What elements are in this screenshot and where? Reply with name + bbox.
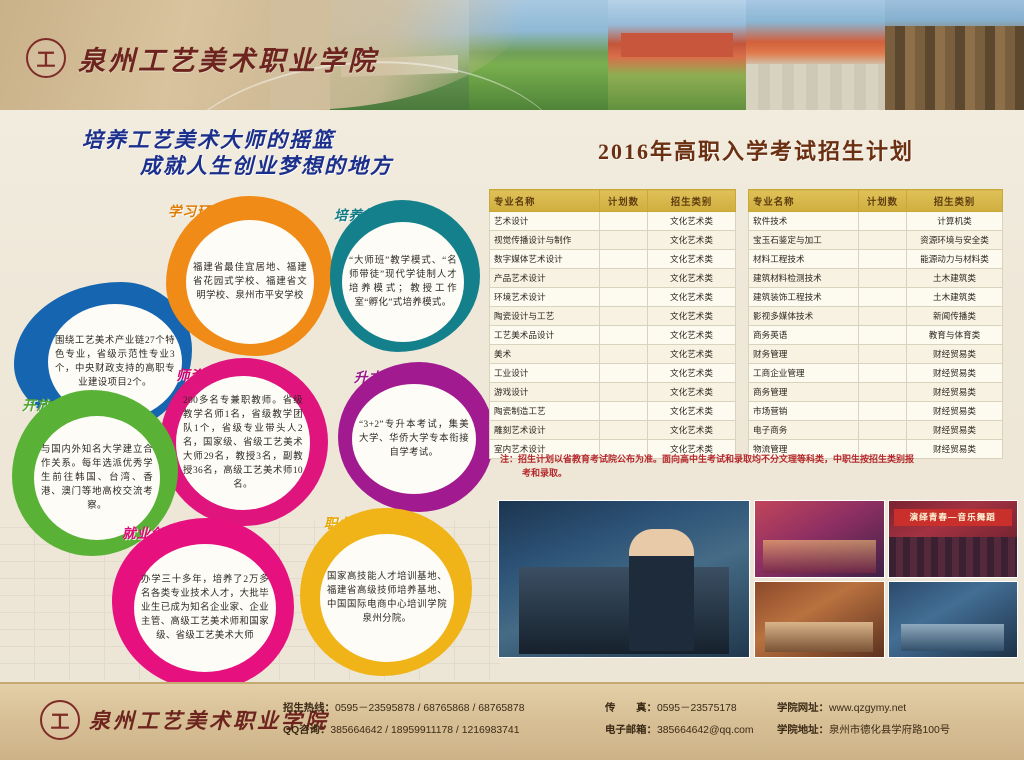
website-value[interactable]: www.qzgymy.net xyxy=(829,703,906,714)
stage-performance-photo xyxy=(754,500,885,578)
cell-major: 产品艺术设计 xyxy=(490,269,600,288)
cell-major: 财务管理 xyxy=(749,345,859,364)
column-header-quota: 计划数 xyxy=(600,190,648,212)
cell-quota xyxy=(859,269,907,288)
cell-major: 陶瓷制造工艺 xyxy=(490,402,600,421)
slogan-line-2: 成就人生创业梦想的地方 xyxy=(140,154,432,180)
petal-text-major-features: 围绕工艺美术产业链27个特色专业，省级示范性专业3个，中央财政支持的高职专业建设… xyxy=(55,334,175,390)
table-row: 视觉传播设计与制作文化艺术类 xyxy=(490,231,736,250)
cell-quota xyxy=(600,326,648,345)
cell-quota xyxy=(859,288,907,307)
cell-major: 工业设计 xyxy=(490,364,600,383)
qq-value: 385664642 / 18959911178 / 1216983741 xyxy=(330,725,519,736)
plan-table-right: 专业名称 计划数 招生类别 软件技术计算机类宝玉石鉴定与加工资源环境与安全类材料… xyxy=(748,189,1003,459)
cell-major: 商务英语 xyxy=(749,326,859,345)
plan-table-left: 专业名称 计划数 招生类别 艺术设计文化艺术类视觉传播设计与制作文化艺术类数字媒… xyxy=(489,189,736,459)
table-row: 市场营销财经贸易类 xyxy=(749,402,1003,421)
cell-major: 宝玉石鉴定与加工 xyxy=(749,231,859,250)
cell-category: 文化艺术类 xyxy=(648,326,736,345)
cell-quota xyxy=(600,307,648,326)
cell-quota xyxy=(600,288,648,307)
cell-quota xyxy=(600,250,648,269)
email-label: 电子邮箱： xyxy=(605,725,657,736)
footer-logo-emblem-icon: 工 xyxy=(40,700,80,740)
cell-category: 能源动力与材料类 xyxy=(907,250,1003,269)
poster-header: 工 泉州工艺美术职业学院 xyxy=(0,0,1024,110)
cell-major: 电子商务 xyxy=(749,421,859,440)
cell-major: 陶瓷设计与工艺 xyxy=(490,307,600,326)
cell-major: 视觉传播设计与制作 xyxy=(490,231,600,250)
cell-category: 教育与体育类 xyxy=(907,326,1003,345)
column-header-major: 专业名称 xyxy=(490,190,600,212)
running-track-photo xyxy=(746,0,885,110)
website-row: 学院网址：www.qzgymy.net xyxy=(777,698,1017,720)
table-row: 陶瓷设计与工艺文化艺术类 xyxy=(490,307,736,326)
cell-major: 工商企业管理 xyxy=(749,364,859,383)
table-row: 游戏设计文化艺术类 xyxy=(490,383,736,402)
cell-major: 影视多媒体技术 xyxy=(749,307,859,326)
cell-major: 环境艺术设计 xyxy=(490,288,600,307)
cell-category: 文化艺术类 xyxy=(648,307,736,326)
cell-major: 游戏设计 xyxy=(490,383,600,402)
qq-row: QQ咨询：385664642 / 18959911178 / 121698374… xyxy=(283,720,605,742)
admission-plan-tables: 专业名称 计划数 招生类别 艺术设计文化艺术类视觉传播设计与制作文化艺术类数字媒… xyxy=(489,189,1003,459)
table-header-row: 专业名称 计划数 招生类别 xyxy=(490,190,736,212)
cell-quota xyxy=(600,269,648,288)
cell-category: 文化艺术类 xyxy=(648,231,736,250)
cell-major: 材料工程技术 xyxy=(749,250,859,269)
table-row: 工艺美术品设计文化艺术类 xyxy=(490,326,736,345)
petal-text-degree-upgrade: “3+2”专升本考试，集美大学、华侨大学专本衔接自学考试。 xyxy=(359,418,469,460)
table-row: 宝玉石鉴定与加工资源环境与安全类 xyxy=(749,231,1003,250)
table-row: 工业设计文化艺术类 xyxy=(490,364,736,383)
table-row: 雕刻艺术设计文化艺术类 xyxy=(490,421,736,440)
cell-major: 工艺美术品设计 xyxy=(490,326,600,345)
features-flower-diagram: 专业设置特色 围绕工艺美术产业链27个特色专业，省级示范性专业3个，中央财政支持… xyxy=(0,178,500,678)
table-row: 电子商务财经贸易类 xyxy=(749,421,1003,440)
music-dance-show-photo: 演绎青春—音乐舞蹈 xyxy=(888,500,1019,578)
cell-category: 计算机类 xyxy=(907,212,1003,231)
cell-quota xyxy=(600,345,648,364)
table-row: 商务管理财经贸易类 xyxy=(749,383,1003,402)
petal-environment: 福建省最佳宜居地、福建省花园式学校、福建省文明学校、泉州市平安学校 xyxy=(166,196,332,356)
cell-quota xyxy=(600,402,648,421)
cell-category: 财经贸易类 xyxy=(907,383,1003,402)
email-row: 电子邮箱：385664642@qq.com xyxy=(605,720,777,742)
cell-major: 软件技术 xyxy=(749,212,859,231)
cell-quota xyxy=(859,250,907,269)
cell-category: 财经贸易类 xyxy=(907,345,1003,364)
logo-emblem-icon: 工 xyxy=(26,38,66,78)
workshop-photo xyxy=(885,0,1024,110)
cell-major: 建筑装饰工程技术 xyxy=(749,288,859,307)
cell-major: 雕刻艺术设计 xyxy=(490,421,600,440)
college-name: 泉州工艺美术职业学院 xyxy=(78,39,378,78)
cell-category: 文化艺术类 xyxy=(648,383,736,402)
cell-category: 文化艺术类 xyxy=(648,269,736,288)
table-row: 建筑装饰工程技术土木建筑类 xyxy=(749,288,1003,307)
slogan-line-1: 培养工艺美术大师的摇篮 xyxy=(82,128,432,154)
table-row: 数字媒体艺术设计文化艺术类 xyxy=(490,250,736,269)
cell-quota xyxy=(859,307,907,326)
table-header-row: 专业名称 计划数 招生类别 xyxy=(749,190,1003,212)
classroom-study-photo xyxy=(888,581,1019,659)
computer-lab-visit-photo xyxy=(498,500,750,658)
table-row: 软件技术计算机类 xyxy=(749,212,1003,231)
hotline-value: 0595－23595878 / 68765868 / 68765878 xyxy=(335,703,525,714)
cell-quota xyxy=(600,383,648,402)
address-row: 学院地址：泉州市德化县学府路100号 xyxy=(777,720,1017,742)
cell-quota xyxy=(600,212,648,231)
cell-quota xyxy=(859,421,907,440)
petal-text-employment: 办学三十多年，培养了2万多名各类专业技术人才，大批毕业生已成为知名企业家、企业主… xyxy=(141,573,269,643)
cell-category: 文化艺术类 xyxy=(648,345,736,364)
cell-category: 文化艺术类 xyxy=(648,212,736,231)
fax-value: 0595－23575178 xyxy=(657,703,737,714)
column-header-category: 招生类别 xyxy=(648,190,736,212)
cell-quota xyxy=(859,326,907,345)
table-row: 建筑材料检测技术土木建筑类 xyxy=(749,269,1003,288)
qq-label: QQ咨询： xyxy=(283,725,330,736)
address-label: 学院地址： xyxy=(777,725,829,736)
petal-skills: 国家高技能人才培训基地、福建省高级技师培养基地、中国国际电商中心培训学院泉州分院… xyxy=(300,508,472,676)
admissions-poster: 工 泉州工艺美术职业学院 培养工艺美术大师的摇篮 成就人生创业梦想的地方 专业设… xyxy=(0,0,1024,760)
cell-category: 资源环境与安全类 xyxy=(907,231,1003,250)
poster-footer: 工 泉州工艺美术职业学院 招生热线：0595－23595878 / 687658… xyxy=(0,682,1024,760)
cell-major: 美术 xyxy=(490,345,600,364)
campus-building-photo xyxy=(608,0,747,110)
cell-major: 艺术设计 xyxy=(490,212,600,231)
cell-major: 建筑材料检测技术 xyxy=(749,269,859,288)
petal-employment: 办学三十多年，培养了2万多名各类专业技术人才，大批毕业生已成为知名企业家、企业主… xyxy=(112,518,294,690)
petal-faculty: 200多名专兼职教师。省级教学名师1名，省级教学团队1个，省级专业带头人2名，国… xyxy=(160,358,328,526)
cell-quota xyxy=(859,231,907,250)
table-row: 影视多媒体技术新闻传播类 xyxy=(749,307,1003,326)
petal-degree-upgrade: “3+2”专升本考试，集美大学、华侨大学专本衔接自学考试。 xyxy=(338,362,494,512)
cell-category: 文化艺术类 xyxy=(648,364,736,383)
plan-note-line-2: 考和录取。 xyxy=(500,466,1016,480)
address-value: 泉州市德化县学府路100号 xyxy=(829,725,950,736)
fax-row: 传 真：0595－23575178 xyxy=(605,698,777,720)
cell-quota xyxy=(600,231,648,250)
table-row: 美术文化艺术类 xyxy=(490,345,736,364)
cell-quota xyxy=(859,383,907,402)
cell-quota xyxy=(859,364,907,383)
petal-text-cooperation: 与国内外知名大学建立合作关系。每年选派优秀学生前往韩国、台湾、香港、澳门等地高校… xyxy=(41,443,153,513)
plan-note: 注：招生计划以省教育考试院公布为准。面向高中生考试和录取均不分文理等科类，中职生… xyxy=(500,452,1016,480)
website-label: 学院网址： xyxy=(777,703,829,714)
petal-training-model: “大师班”教学模式、“名师带徒”现代学徒制人才培养模式；教授工作室“孵化”式培养… xyxy=(330,200,480,352)
photo-gallery: 演绎青春—音乐舞蹈 xyxy=(498,500,1018,660)
cell-quota xyxy=(600,421,648,440)
cell-category: 财经贸易类 xyxy=(907,364,1003,383)
table-row: 产品艺术设计文化艺术类 xyxy=(490,269,736,288)
column-header-category: 招生类别 xyxy=(907,190,1003,212)
cell-category: 文化艺术类 xyxy=(648,421,736,440)
table-row: 工商企业管理财经贸易类 xyxy=(749,364,1003,383)
table-row: 艺术设计文化艺术类 xyxy=(490,212,736,231)
table-row: 财务管理财经贸易类 xyxy=(749,345,1003,364)
cell-category: 土木建筑类 xyxy=(907,288,1003,307)
table-row: 环境艺术设计文化艺术类 xyxy=(490,288,736,307)
cell-category: 文化艺术类 xyxy=(648,250,736,269)
cell-category: 土木建筑类 xyxy=(907,269,1003,288)
column-header-major: 专业名称 xyxy=(749,190,859,212)
hotline-row: 招生热线：0595－23595878 / 68765868 / 68765878 xyxy=(283,698,605,720)
table-row: 商务英语教育与体育类 xyxy=(749,326,1003,345)
slogan-block: 培养工艺美术大师的摇篮 成就人生创业梦想的地方 xyxy=(82,128,432,180)
cell-category: 财经贸易类 xyxy=(907,421,1003,440)
footer-contact-info: 招生热线：0595－23595878 / 68765868 / 68765878… xyxy=(283,698,1017,742)
fax-label: 传 真： xyxy=(605,703,657,714)
cell-quota xyxy=(859,345,907,364)
craft-workshop-photo xyxy=(754,581,885,659)
cell-category: 财经贸易类 xyxy=(907,402,1003,421)
college-logo: 工 泉州工艺美术职业学院 xyxy=(26,38,378,78)
petal-text-skills: 国家高技能人才培训基地、福建省高级技师培养基地、中国国际电商中心培训学院泉州分院… xyxy=(327,570,447,626)
column-header-quota: 计划数 xyxy=(859,190,907,212)
petal-text-environment: 福建省最佳宜居地、福建省花园式学校、福建省文明学校、泉州市平安学校 xyxy=(193,261,307,303)
cell-category: 文化艺术类 xyxy=(648,288,736,307)
petal-text-training-model: “大师班”教学模式、“名师带徒”现代学徒制人才培养模式；教授工作室“孵化”式培养… xyxy=(349,254,457,310)
photo-grid: 演绎青春—音乐舞蹈 xyxy=(754,500,1018,658)
table-row: 材料工程技术能源动力与材料类 xyxy=(749,250,1003,269)
cell-major: 市场营销 xyxy=(749,402,859,421)
plan-note-line-1: 注：招生计划以省教育考试院公布为准。面向高中生考试和录取均不分文理等科类，中职生… xyxy=(500,454,914,464)
stage-banner-text: 演绎青春—音乐舞蹈 xyxy=(894,509,1012,526)
cell-major: 数字媒体艺术设计 xyxy=(490,250,600,269)
cell-quota xyxy=(600,364,648,383)
cell-category: 文化艺术类 xyxy=(648,402,736,421)
hotline-label: 招生热线： xyxy=(283,703,335,714)
cell-category: 新闻传播类 xyxy=(907,307,1003,326)
table-row: 陶瓷制造工艺文化艺术类 xyxy=(490,402,736,421)
cell-quota xyxy=(859,212,907,231)
petal-text-faculty: 200多名专兼职教师。省级教学名师1名，省级教学团队1个，省级专业带头人2名，国… xyxy=(183,394,303,492)
cell-major: 商务管理 xyxy=(749,383,859,402)
email-value: 385664642@qq.com xyxy=(657,725,754,736)
plan-title: 2016年高职入学考试招生计划 xyxy=(598,134,914,166)
cell-quota xyxy=(859,402,907,421)
